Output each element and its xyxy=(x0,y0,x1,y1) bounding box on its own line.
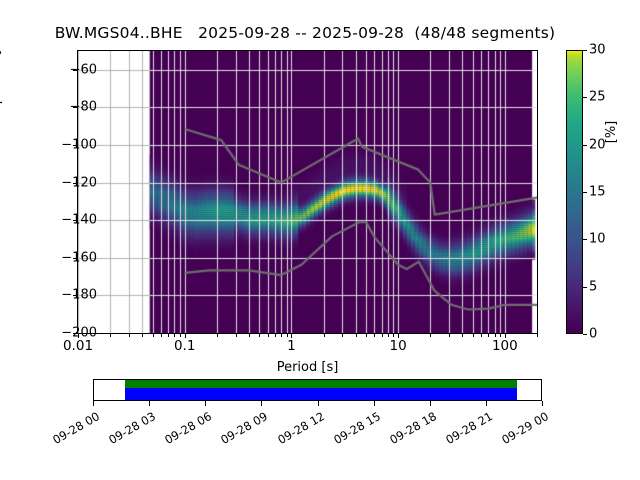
colorbar-tick-mark xyxy=(583,192,587,193)
ppsd-plot-axes xyxy=(77,50,538,334)
colorbar-label: [%] xyxy=(604,72,619,192)
x-axis-minor-tick-mark xyxy=(430,334,431,337)
y-axis-tick-label: −140 xyxy=(61,213,97,228)
x-axis-minor-tick-mark xyxy=(366,334,367,337)
timeline-tick-label: 09-28 09 xyxy=(213,409,270,450)
x-axis-minor-tick-mark xyxy=(500,334,501,337)
timeline-tick-mark xyxy=(542,401,543,406)
y-axis-tick-label: −100 xyxy=(61,138,97,153)
x-axis-tick-label: 1 xyxy=(287,338,296,354)
x-axis-minor-tick-mark xyxy=(374,334,375,337)
x-axis-minor-tick-mark xyxy=(153,334,154,337)
colorbar-tick-mark xyxy=(583,145,587,146)
x-axis-minor-tick-mark xyxy=(129,334,130,337)
colorbar-tick-mark xyxy=(583,50,587,51)
x-axis-tick-label: 100 xyxy=(492,338,518,354)
y-axis-tick-label: −180 xyxy=(61,288,97,303)
timeline-tick-label: 09-29 00 xyxy=(494,409,551,450)
timeline-tick-label: 09-28 15 xyxy=(325,409,382,450)
timeline-tick-mark xyxy=(261,401,262,406)
colorbar-tick-mark xyxy=(583,334,587,335)
x-axis-tick-label: 0.01 xyxy=(63,338,93,354)
y-axis-tick-label: −160 xyxy=(61,250,97,265)
x-axis-minor-tick-mark xyxy=(268,334,269,337)
colorbar-tick-mark xyxy=(583,239,587,240)
x-axis-label: Period [s] xyxy=(77,360,538,375)
x-axis-minor-tick-mark xyxy=(393,334,394,337)
x-axis-tick-label: 0.1 xyxy=(174,338,195,354)
timeline-tick-label: 09-28 03 xyxy=(101,409,158,450)
ppsd-plot-area xyxy=(78,51,537,333)
colorbar-tick-mark xyxy=(583,287,587,288)
y-axis-tick-label: −120 xyxy=(61,175,97,190)
x-axis-minor-tick-mark xyxy=(174,334,175,337)
psd-segments-blue xyxy=(125,388,517,400)
x-axis-minor-tick-mark xyxy=(342,334,343,337)
timeline-tick-label: 09-28 12 xyxy=(269,409,326,450)
data-coverage-green xyxy=(125,380,517,388)
x-axis-minor-tick-mark xyxy=(449,334,450,337)
colorbar-tick-label: 30 xyxy=(589,43,606,58)
x-axis-minor-tick-mark xyxy=(488,334,489,337)
timeline-tick-mark xyxy=(149,401,150,406)
x-axis-minor-tick-mark xyxy=(537,334,538,337)
timeline-tick-mark xyxy=(93,401,94,406)
timeline-tick-mark xyxy=(430,401,431,406)
y-axis-tick-mark xyxy=(73,183,77,184)
x-axis-minor-tick-mark xyxy=(462,334,463,337)
x-axis-minor-tick-mark xyxy=(142,334,143,337)
x-axis-minor-tick-mark xyxy=(495,334,496,337)
peterson-noise-model-curves xyxy=(78,51,537,333)
x-axis-minor-tick-mark xyxy=(356,334,357,337)
x-axis-minor-tick-mark xyxy=(324,334,325,337)
timeline-tick-mark xyxy=(318,401,319,406)
y-axis-tick-mark xyxy=(73,107,77,108)
timeline-tick-mark xyxy=(486,401,487,406)
data-coverage-timeline xyxy=(93,379,542,401)
timeline-tick-mark xyxy=(374,401,375,406)
x-axis-minor-tick-mark xyxy=(249,334,250,337)
x-axis-minor-tick-mark xyxy=(388,334,389,337)
x-axis-minor-tick-mark xyxy=(180,334,181,337)
x-axis-minor-tick-mark xyxy=(236,334,237,337)
y-axis-tick-mark xyxy=(73,295,77,296)
colorbar-tick-label: 10 xyxy=(589,232,606,247)
timeline-tick-label: 09-28 06 xyxy=(157,409,214,450)
colorbar-tick-mark xyxy=(583,97,587,98)
timeline-tick-label: 09-28 18 xyxy=(382,409,439,450)
colorbar-tick-label: 0 xyxy=(589,327,597,342)
x-axis-minor-tick-mark xyxy=(259,334,260,337)
x-axis-minor-tick-mark xyxy=(161,334,162,337)
y-axis-tick-mark xyxy=(73,258,77,259)
colorbar-tick-label: 5 xyxy=(589,279,597,294)
x-axis-minor-tick-mark xyxy=(217,334,218,337)
y-axis-tick-mark xyxy=(73,333,77,334)
timeline-tick-label: 09-28 21 xyxy=(438,409,495,450)
x-axis-minor-tick-mark xyxy=(382,334,383,337)
x-axis-tick-label: 10 xyxy=(390,338,407,354)
x-axis-minor-tick-mark xyxy=(481,334,482,337)
x-axis-minor-tick-mark xyxy=(110,334,111,337)
x-axis-minor-tick-mark xyxy=(473,334,474,337)
y-axis-tick-mark xyxy=(73,145,77,146)
y-axis-tick-mark xyxy=(73,220,77,221)
timeline-tick-mark xyxy=(205,401,206,406)
x-axis-minor-tick-mark xyxy=(281,334,282,337)
y-axis-label: Amplitude [m²/s⁴/Hz] [dB] xyxy=(0,0,3,192)
y-axis-tick-mark xyxy=(73,70,77,71)
timeline-tick-label: 09-28 00 xyxy=(45,409,102,450)
colorbar xyxy=(566,50,583,334)
page-title: BW.MGS04..BHE 2025-09-28 -- 2025-09-28 (… xyxy=(0,24,610,42)
x-axis-minor-tick-mark xyxy=(168,334,169,337)
x-axis-minor-tick-mark xyxy=(275,334,276,337)
x-axis-minor-tick-mark xyxy=(287,334,288,337)
